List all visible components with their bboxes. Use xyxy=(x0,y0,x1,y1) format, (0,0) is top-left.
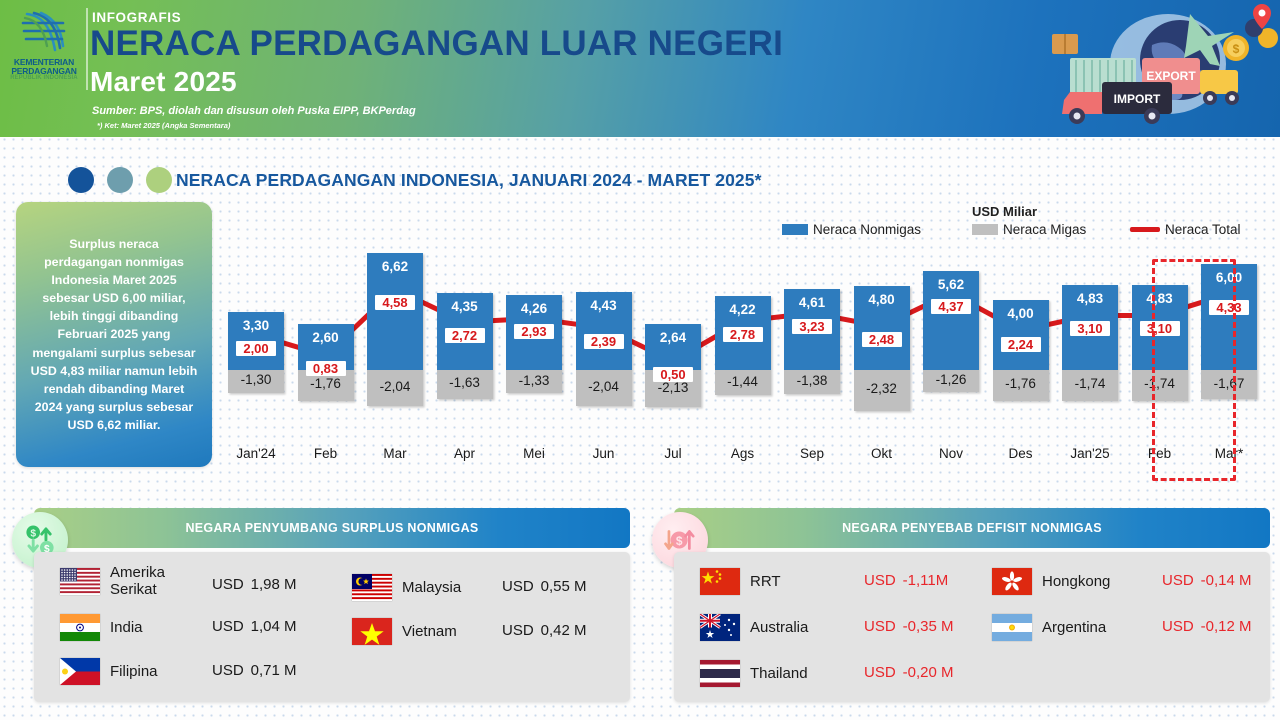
country-value: USD0,71 M xyxy=(212,662,297,679)
page-title: NERACA PERDAGANGAN LUAR NEGERI xyxy=(90,24,783,64)
country-name: Argentina xyxy=(1042,619,1106,636)
country-row: Hongkong xyxy=(992,568,1110,595)
x-axis-label: Sep xyxy=(778,446,846,461)
line-label-total: 2,00 xyxy=(236,341,276,356)
x-axis-label: Mar xyxy=(361,446,429,461)
summary-text: Surplus neraca perdagangan nonmigas Indo… xyxy=(29,235,199,434)
bar-label-nonmigas: 4,83 xyxy=(1062,291,1118,306)
legend-item-nonmigas: Neraca Nonmigas xyxy=(782,222,921,237)
bar-label-migas: -2,04 xyxy=(367,379,423,394)
surplus-country-list: Amerika SerikatUSD1,98 MIndiaUSD1,04 MFi… xyxy=(34,552,630,702)
x-axis-label: Jul xyxy=(639,446,707,461)
country-row: Vietnam xyxy=(352,618,457,645)
country-row: Malaysia xyxy=(352,574,461,601)
header-eyebrow: INFOGRAFIS xyxy=(92,10,181,25)
flag-india-icon xyxy=(60,614,100,641)
flag-vietnam-icon xyxy=(352,618,392,645)
chart-title: NERACA PERDAGANGAN INDONESIA, JANUARI 20… xyxy=(176,170,761,191)
line-label-total: 2,24 xyxy=(1001,337,1041,352)
line-label-total: 4,58 xyxy=(375,295,415,310)
country-value: USD-0,35 M xyxy=(864,618,954,635)
surplus-panel: NEGARA PENYUMBANG SURPLUS NONMIGAS $ $ A… xyxy=(12,508,630,710)
country-row: Filipina xyxy=(60,658,158,685)
country-value: USD-0,14 M xyxy=(1162,572,1252,589)
flag-malaysia-icon xyxy=(352,574,392,601)
line-label-total: 2,48 xyxy=(862,332,902,347)
country-value: USD-0,20 M xyxy=(864,664,954,681)
chart-bar-column: 4,43-2,042,39Jun xyxy=(576,250,632,475)
ministry-logo: KEMENTERIAN PERDAGANGAN REPUBLIK INDONES… xyxy=(6,6,82,92)
country-name: Malaysia xyxy=(402,579,461,596)
x-axis-label: Mei xyxy=(500,446,568,461)
country-name: Hongkong xyxy=(1042,573,1110,590)
chart-legend: Neraca Nonmigas Neraca Migas Neraca Tota… xyxy=(782,222,1222,240)
country-value: USD1,04 M xyxy=(212,618,297,635)
line-label-total: 0,83 xyxy=(306,361,346,376)
chart-unit-label: USD Miliar xyxy=(972,204,1037,219)
country-row: RRT xyxy=(700,568,781,595)
x-axis-label: Des xyxy=(987,446,1055,461)
import-label: IMPORT xyxy=(1114,92,1161,106)
country-row: Amerika Serikat xyxy=(60,564,190,599)
header-divider xyxy=(86,8,88,90)
bar-label-migas: -1,44 xyxy=(715,374,771,389)
bar-label-migas: -2,04 xyxy=(576,379,632,394)
bar-label-migas: -1,63 xyxy=(437,375,493,390)
legend-swatch-nonmigas xyxy=(782,224,808,235)
line-label-total: 3,23 xyxy=(792,319,832,334)
x-axis-label: Jan'25 xyxy=(1056,446,1124,461)
source-note: Sumber: BPS, diolah dan disusun oleh Pus… xyxy=(92,105,416,117)
country-name: Filipina xyxy=(110,663,158,680)
currency-label: USD xyxy=(1162,618,1194,635)
logo-line-2: PERDAGANGAN xyxy=(10,67,77,76)
country-name: India xyxy=(110,619,143,636)
bar-label-migas: -1,33 xyxy=(506,373,562,388)
country-name: RRT xyxy=(750,573,781,590)
flag-thailand-icon xyxy=(700,660,740,687)
surplus-panel-title: NEGARA PENYUMBANG SURPLUS NONMIGAS xyxy=(34,508,630,548)
bar-label-nonmigas: 4,00 xyxy=(993,306,1049,321)
summary-callout: Surplus neraca perdagangan nonmigas Indo… xyxy=(16,202,212,467)
chart-bar-column: 2,64-2,130,50Jul xyxy=(645,250,701,475)
line-label-total: 2,72 xyxy=(445,328,485,343)
bar-label-migas: -1,38 xyxy=(784,373,840,388)
svg-text:$: $ xyxy=(30,529,36,540)
country-value: USD1,98 M xyxy=(212,576,297,593)
line-label-total: 2,39 xyxy=(584,334,624,349)
country-value: USD0,42 M xyxy=(502,622,587,639)
currency-label: USD xyxy=(212,618,244,635)
ministry-logo-text: KEMENTERIAN PERDAGANGAN REPUBLIK INDONES… xyxy=(10,58,77,81)
bar-label-nonmigas: 4,61 xyxy=(784,295,840,310)
currency-label: USD xyxy=(502,578,534,595)
bar-label-nonmigas: 4,35 xyxy=(437,299,493,314)
chart-bar-column: 2,60-1,760,83Feb xyxy=(298,250,354,475)
currency-label: USD xyxy=(212,662,244,679)
trade-illustration: EXPORT IMPORT $ xyxy=(1040,0,1280,137)
deficit-panel-title: NEGARA PENYEBAB DEFISIT NONMIGAS xyxy=(674,508,1270,548)
svg-text:$: $ xyxy=(676,534,683,548)
currency-label: USD xyxy=(1162,572,1194,589)
logo-line-3: REPUBLIK INDONESIA xyxy=(10,75,77,81)
page-subtitle: Maret 2025 xyxy=(90,66,237,98)
flag-china-icon xyxy=(700,568,740,595)
legend-label-total: Neraca Total xyxy=(1165,222,1241,237)
bar-label-nonmigas: 3,30 xyxy=(228,318,284,333)
currency-label: USD xyxy=(864,664,896,681)
bar-label-migas: -1,26 xyxy=(923,372,979,387)
bar-label-nonmigas: 4,26 xyxy=(506,301,562,316)
line-label-total: 2,93 xyxy=(514,324,554,339)
currency-label: USD xyxy=(502,622,534,639)
legend-label-nonmigas: Neraca Nonmigas xyxy=(813,222,921,237)
bar-label-migas: -1,76 xyxy=(993,376,1049,391)
title-dot-1 xyxy=(68,167,94,193)
country-name: Australia xyxy=(750,619,808,636)
x-axis-label: Jan'24 xyxy=(222,446,290,461)
bar-label-nonmigas: 2,64 xyxy=(645,330,701,345)
x-axis-label: Apr xyxy=(431,446,499,461)
chart-bar-column: 4,80-2,322,48Okt xyxy=(854,250,910,475)
chart-bar-column: 4,61-1,383,23Sep xyxy=(784,250,840,475)
country-value: USD0,55 M xyxy=(502,578,587,595)
trade-balance-chart: 3,30-1,302,00Jan'242,60-1,760,83Feb6,62-… xyxy=(222,250,1272,475)
x-axis-label: Nov xyxy=(917,446,985,461)
svg-text:$: $ xyxy=(1233,42,1240,56)
bar-label-nonmigas: 4,22 xyxy=(715,302,771,317)
line-label-total: 2,78 xyxy=(723,327,763,342)
provisional-note: *) Ket: Maret 2025 (Angka Sementara) xyxy=(97,121,230,130)
ministry-logo-mark xyxy=(17,6,71,56)
country-row: Thailand xyxy=(700,660,808,687)
chart-bar-column: 6,62-2,044,58Mar xyxy=(367,250,423,475)
x-axis-label: Ags xyxy=(709,446,777,461)
line-label-total: 3,10 xyxy=(1070,321,1110,336)
bar-label-migas: -1,74 xyxy=(1062,376,1118,391)
flag-australia-icon xyxy=(700,614,740,641)
line-label-total: 4,37 xyxy=(931,299,971,314)
bar-label-migas: -1,30 xyxy=(228,372,284,387)
title-dot-group xyxy=(68,167,172,193)
country-row: India xyxy=(60,614,143,641)
bar-label-nonmigas: 2,60 xyxy=(298,330,354,345)
currency-label: USD xyxy=(864,572,896,589)
deficit-country-list: RRTUSD-1,11MAustraliaUSD-0,35 MThailandU… xyxy=(674,552,1270,702)
current-month-highlight xyxy=(1152,259,1236,481)
currency-label: USD xyxy=(864,618,896,635)
country-value: USD-0,12 M xyxy=(1162,618,1252,635)
legend-swatch-migas xyxy=(972,224,998,235)
chart-bar-column: 5,62-1,264,37Nov xyxy=(923,250,979,475)
chart-bar-column: 4,83-1,743,10Jan'25 xyxy=(1062,250,1118,475)
chart-bar-column: 4,35-1,632,72Apr xyxy=(437,250,493,475)
country-name: Thailand xyxy=(750,665,808,682)
export-label: EXPORT xyxy=(1146,69,1196,83)
chart-bar-column: 4,26-1,332,93Mei xyxy=(506,250,562,475)
deficit-panel: NEGARA PENYEBAB DEFISIT NONMIGAS $ RRTUS… xyxy=(652,508,1270,710)
flag-argentina-icon xyxy=(992,614,1032,641)
legend-label-migas: Neraca Migas xyxy=(1003,222,1086,237)
title-dot-3 xyxy=(146,167,172,193)
country-value: USD-1,11M xyxy=(864,572,948,589)
bar-label-migas: -1,76 xyxy=(298,376,354,391)
title-dot-2 xyxy=(107,167,133,193)
chart-bar-column: 3,30-1,302,00Jan'24 xyxy=(228,250,284,475)
bar-label-nonmigas: 6,62 xyxy=(367,259,423,274)
x-axis-label: Feb xyxy=(292,446,360,461)
bar-label-nonmigas: 4,80 xyxy=(854,292,910,307)
bar-label-nonmigas: 4,43 xyxy=(576,298,632,313)
legend-item-total: Neraca Total xyxy=(1130,222,1241,237)
flag-philippines-icon xyxy=(60,658,100,685)
country-name: Vietnam xyxy=(402,623,457,640)
flag-hongkong-icon xyxy=(992,568,1032,595)
infographic-page: KEMENTERIAN PERDAGANGAN REPUBLIK INDONES… xyxy=(0,0,1280,720)
country-row: Australia xyxy=(700,614,808,641)
line-label-total: 0,50 xyxy=(653,367,693,382)
currency-label: USD xyxy=(212,576,244,593)
chart-bar-column: 4,00-1,762,24Des xyxy=(993,250,1049,475)
bar-label-migas: -2,32 xyxy=(854,381,910,396)
x-axis-label: Jun xyxy=(570,446,638,461)
chart-bar-column: 4,22-1,442,78Ags xyxy=(715,250,771,475)
legend-line-total xyxy=(1130,227,1160,232)
legend-item-migas: Neraca Migas xyxy=(972,222,1086,237)
x-axis-label: Okt xyxy=(848,446,916,461)
country-name: Amerika Serikat xyxy=(110,564,190,599)
page-header: KEMENTERIAN PERDAGANGAN REPUBLIK INDONES… xyxy=(0,0,1280,137)
bar-label-nonmigas: 5,62 xyxy=(923,277,979,292)
flag-usa-icon xyxy=(60,568,100,595)
country-row: Argentina xyxy=(992,614,1106,641)
